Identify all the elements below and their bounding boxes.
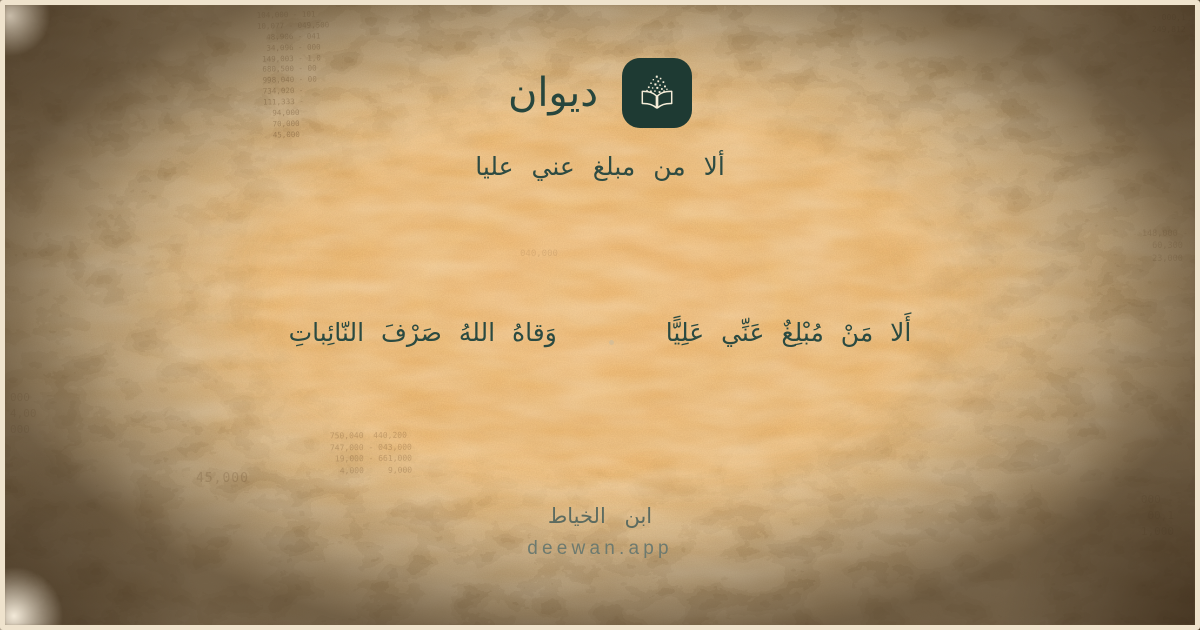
verse-line: أَلا مَنْ مُبْلِغٌ عَنِّي عَلِيًّا وَقاه… [0,318,1200,347]
poet-name: ابن الخياط [0,504,1200,528]
verse-first-hemistich: أَلا مَنْ مُبْلِغٌ عَنِّي عَلِيًّا [666,318,912,347]
poster-content: ديوان ألا من مبلغ عني عليا أَلا مَنْ مُب… [0,0,1200,630]
dot-separator-icon [609,340,614,345]
brand-name: ديوان [508,73,598,113]
poem-title: ألا من مبلغ عني عليا [475,152,725,181]
poster-footer: ابن الخياط deewan.app [0,504,1200,560]
open-book-sparkles-icon [636,72,678,114]
poster-card: 104,000 - 101 10,077 - 049,500 48,906 - … [0,0,1200,630]
site-url[interactable]: deewan.app [0,538,1200,560]
verse-second-hemistich: وَقاهُ اللهُ صَرْفَ النّائِباتِ [289,318,557,347]
brand-header: ديوان [508,58,692,128]
deewan-logo-badge[interactable] [622,58,692,128]
